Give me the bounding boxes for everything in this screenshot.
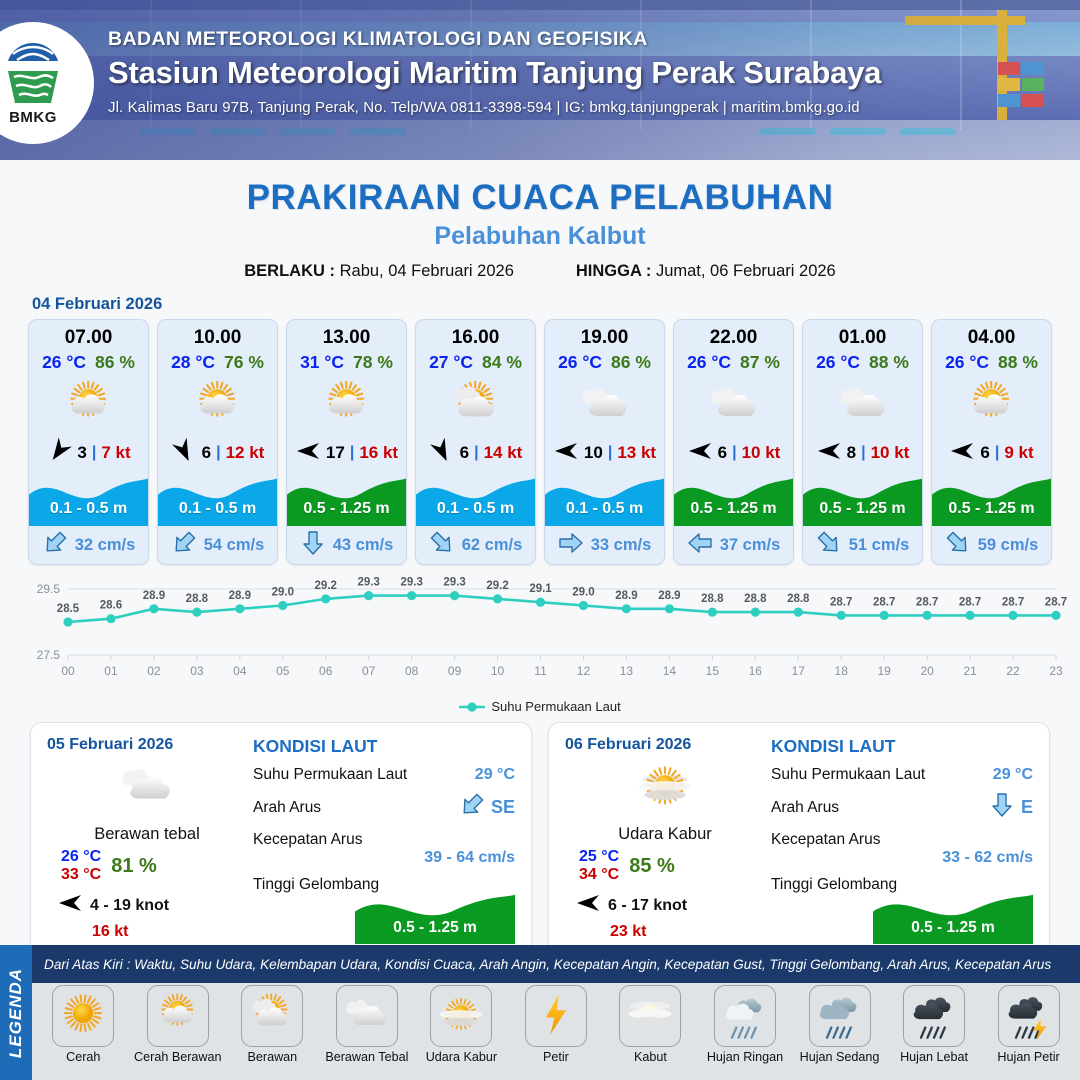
chart-legend-marker-icon — [459, 701, 485, 713]
wind-separator: | — [474, 444, 478, 462]
weather-hujan-lebat-icon — [903, 985, 965, 1047]
card-time: 10.00 — [194, 327, 242, 349]
legend-item: Cerah Berawan — [132, 985, 224, 1064]
legend-item: Hujan Ringan — [699, 985, 791, 1064]
validity-to-label: HINGGA : — [576, 262, 651, 280]
legend-item: Hujan Sedang — [794, 985, 886, 1064]
card-wind-direction: 10 — [584, 443, 603, 463]
forecast-card: 19.00 26 °C 86 % 10 | 13 kt 0.1 - 0.5 m … — [544, 319, 665, 565]
card-temperature: 26 °C — [558, 352, 602, 373]
svg-text:12: 12 — [577, 664, 591, 678]
svg-text:03: 03 — [190, 664, 204, 678]
forecast-date-label: 04 Februari 2026 — [32, 295, 1080, 314]
svg-text:16: 16 — [749, 664, 763, 678]
svg-text:28.9: 28.9 — [658, 590, 680, 602]
card-temp-humidity: 26 °C 86 % — [42, 352, 135, 373]
current-direction-label: Arah Arus — [253, 799, 321, 817]
current-speed-row: Kecepatan Arus — [771, 831, 1033, 849]
card-time: 01.00 — [839, 327, 887, 349]
chart-legend-label: Suhu Permukaan Laut — [491, 699, 620, 714]
forecast-card: 22.00 26 °C 87 % 6 | 10 kt 0.5 - 1.25 m … — [673, 319, 794, 565]
forecast-card: 07.00 26 °C 86 % 3 | 7 kt 0.1 - 0.5 m 32… — [28, 319, 149, 565]
weather-cerah-berawan-icon — [158, 376, 277, 436]
card-temperature: 28 °C — [171, 352, 215, 373]
legend-note-bar: Dari Atas Kiri : Waktu, Suhu Udara, Kele… — [32, 945, 1080, 983]
weather-kabut-icon — [619, 985, 681, 1047]
daily-wave-height: 0.5 - 1.25 m — [873, 919, 1033, 937]
svg-text:10: 10 — [491, 664, 505, 678]
wind-direction-arrow-icon — [57, 891, 83, 920]
weather-cerah-berawan-icon — [29, 376, 148, 436]
svg-text:28.7: 28.7 — [873, 596, 895, 608]
daily-temp-min: 26 °C — [61, 848, 101, 866]
legend-side-label: LEGENDA — [0, 945, 32, 1080]
sst-chart-svg: 29.527.500010203040506070809101112131415… — [10, 577, 1070, 697]
card-humidity: 86 % — [95, 352, 135, 373]
wind-direction-arrow-icon — [687, 439, 713, 468]
card-wind-direction: 6 — [980, 443, 989, 463]
svg-text:08: 08 — [405, 664, 419, 678]
daily-temp-block: 26 °C 33 °C 81 % — [47, 848, 247, 884]
weather-cerah-icon — [52, 985, 114, 1047]
svg-text:28.9: 28.9 — [143, 590, 165, 602]
card-wind-row: 8 | 10 kt — [803, 436, 922, 470]
page-subtitle: Pelabuhan Kalbut — [0, 222, 1080, 251]
daily-wave-height: 0.5 - 1.25 m — [355, 919, 515, 937]
svg-text:29.3: 29.3 — [358, 577, 380, 589]
current-speed-value: 39 - 64 cm/s — [253, 849, 515, 867]
daily-sea-conditions: KONDISI LAUT Suhu Permukaan Laut 29 °C A… — [765, 736, 1033, 957]
legend-item: Berawan Tebal — [321, 985, 413, 1064]
svg-text:29.3: 29.3 — [443, 577, 465, 589]
forecast-card: 13.00 31 °C 78 % 17 | 16 kt 0.5 - 1.25 m… — [286, 319, 407, 565]
legend-item-label: Cerah Berawan — [134, 1050, 222, 1064]
svg-text:06: 06 — [319, 664, 333, 678]
card-wind-speed: 10 kt — [871, 443, 910, 463]
wind-direction-arrow-icon — [295, 439, 321, 468]
current-direction-arrow-icon — [816, 531, 842, 560]
current-direction-arrow-icon — [171, 531, 197, 560]
svg-text:27.5: 27.5 — [37, 648, 61, 662]
weather-cerah-berawan-icon — [932, 376, 1051, 436]
svg-text:28.6: 28.6 — [100, 600, 122, 612]
card-temp-humidity: 26 °C 87 % — [687, 352, 780, 373]
daily-wave-band: 0.5 - 1.25 m — [873, 888, 1033, 944]
sst-value: 29 °C — [993, 766, 1033, 784]
daily-wind-speed: 6 - 17 knot — [608, 897, 687, 915]
current-direction-row: Arah Arus E — [771, 793, 1033, 822]
card-temp-humidity: 31 °C 78 % — [300, 352, 393, 373]
svg-text:28.8: 28.8 — [744, 593, 767, 605]
current-direction-arrow-icon — [945, 531, 971, 560]
card-wind-row: 10 | 13 kt — [545, 436, 664, 470]
card-wave-height: 0.5 - 1.25 m — [803, 500, 922, 518]
card-humidity: 86 % — [611, 352, 651, 373]
legend-item: Petir — [510, 985, 602, 1064]
card-humidity: 84 % — [482, 352, 522, 373]
legend-item: Hujan Petir — [983, 985, 1075, 1064]
card-wind-row: 17 | 16 kt — [287, 436, 406, 470]
card-current-speed: 43 cm/s — [333, 536, 394, 555]
card-wave-band: 0.1 - 0.5 m — [545, 472, 664, 526]
card-humidity: 88 % — [869, 352, 909, 373]
card-wind-direction: 6 — [202, 443, 211, 463]
legend-side-text: LEGENDA — [6, 967, 26, 1057]
sst-row: Suhu Permukaan Laut 29 °C — [771, 766, 1033, 784]
card-wave-band: 0.1 - 0.5 m — [158, 472, 277, 526]
legend-section: LEGENDA Dari Atas Kiri : Waktu, Suhu Uda… — [0, 945, 1080, 1080]
current-direction-value: E — [1021, 797, 1033, 818]
card-wave-height: 0.1 - 0.5 m — [416, 500, 535, 518]
card-wave-height: 0.5 - 1.25 m — [287, 500, 406, 518]
daily-summary-panel: 05 Februari 2026 Berawan tebal 26 °C 33 … — [30, 722, 532, 970]
daily-wind-row: 6 - 17 knot — [565, 891, 765, 920]
card-wind-speed: 14 kt — [484, 443, 523, 463]
sea-conditions-title: KONDISI LAUT — [253, 736, 515, 757]
card-current-speed: 37 cm/s — [720, 536, 781, 555]
validity-from-label: BERLAKU : — [244, 262, 335, 280]
card-current-speed: 54 cm/s — [204, 536, 265, 555]
daily-humidity: 85 % — [629, 855, 675, 878]
card-time: 16.00 — [452, 327, 500, 349]
weather-hujan-ringan-icon — [714, 985, 776, 1047]
card-wave-band: 0.5 - 1.25 m — [287, 472, 406, 526]
card-current-speed: 51 cm/s — [849, 536, 910, 555]
wind-direction-arrow-icon — [949, 439, 975, 468]
wind-direction-arrow-icon — [46, 439, 72, 468]
header-address: Jl. Kalimas Baru 97B, Tanjung Perak, No.… — [108, 99, 1068, 116]
card-wind-direction: 3 — [77, 443, 86, 463]
card-wave-band: 0.5 - 1.25 m — [674, 472, 793, 526]
card-wave-height: 0.1 - 0.5 m — [158, 500, 277, 518]
weather-berawan-icon — [416, 376, 535, 436]
daily-temp-max: 34 °C — [579, 866, 619, 884]
weather-berawan-icon — [241, 985, 303, 1047]
legend-item-label: Berawan Tebal — [325, 1050, 408, 1064]
current-speed-label: Kecepatan Arus — [253, 831, 362, 849]
daily-condition: Berawan tebal — [47, 825, 247, 844]
wind-separator: | — [861, 444, 865, 462]
wind-separator: | — [92, 444, 96, 462]
wind-direction-arrow-icon — [553, 439, 579, 468]
card-wave-height: 0.5 - 1.25 m — [674, 500, 793, 518]
daily-sea-conditions: KONDISI LAUT Suhu Permukaan Laut 29 °C A… — [247, 736, 515, 957]
card-wave-band: 0.5 - 1.25 m — [803, 472, 922, 526]
svg-text:29.0: 29.0 — [272, 587, 294, 599]
svg-text:09: 09 — [448, 664, 462, 678]
daily-humidity: 81 % — [111, 855, 157, 878]
chart-legend: Suhu Permukaan Laut — [0, 699, 1080, 714]
card-wave-band: 0.1 - 0.5 m — [416, 472, 535, 526]
card-wind-speed: 10 kt — [742, 443, 781, 463]
card-humidity: 76 % — [224, 352, 264, 373]
bmkg-logo-mark — [1, 41, 65, 107]
page-title: PRAKIRAAN CUACA PELABUHAN — [0, 178, 1080, 218]
svg-text:28.8: 28.8 — [701, 593, 724, 605]
legend-item: Udara Kabur — [415, 985, 507, 1064]
card-wind-direction: 8 — [847, 443, 856, 463]
card-current-speed: 62 cm/s — [462, 536, 523, 555]
card-wind-direction: 6 — [718, 443, 727, 463]
weather-berawan-tebal-icon — [47, 757, 247, 819]
wind-direction-arrow-icon — [171, 439, 197, 468]
card-wave-height: 0.1 - 0.5 m — [545, 500, 664, 518]
validity-from: BERLAKU : Rabu, 04 Februari 2026 — [244, 262, 514, 281]
header-text-block: BADAN METEOROLOGI KLIMATOLOGI DAN GEOFIS… — [108, 28, 1068, 116]
card-temperature: 26 °C — [816, 352, 860, 373]
wind-direction-arrow-icon — [429, 439, 455, 468]
validity-row: BERLAKU : Rabu, 04 Februari 2026 HINGGA … — [0, 262, 1080, 281]
legend-item: Berawan — [226, 985, 318, 1064]
weather-udara-kabur-icon — [430, 985, 492, 1047]
wind-separator: | — [732, 444, 736, 462]
card-temp-humidity: 28 °C 76 % — [171, 352, 264, 373]
card-wind-row: 3 | 7 kt — [29, 436, 148, 470]
card-current-speed: 32 cm/s — [75, 536, 136, 555]
svg-text:28.7: 28.7 — [1045, 596, 1067, 608]
card-current-row: 62 cm/s — [416, 526, 535, 564]
daily-panels: 05 Februari 2026 Berawan tebal 26 °C 33 … — [0, 714, 1080, 970]
daily-date: 05 Februari 2026 — [47, 736, 247, 754]
current-direction-value-group: SE — [459, 793, 515, 822]
card-humidity: 87 % — [740, 352, 780, 373]
card-wind-row: 6 | 14 kt — [416, 436, 535, 470]
svg-text:07: 07 — [362, 664, 376, 678]
svg-text:21: 21 — [963, 664, 977, 678]
svg-text:28.7: 28.7 — [1002, 596, 1024, 608]
card-wave-band: 0.1 - 0.5 m — [29, 472, 148, 526]
svg-text:28.5: 28.5 — [57, 603, 80, 615]
daily-date: 06 Februari 2026 — [565, 736, 765, 754]
wind-separator: | — [995, 444, 999, 462]
svg-text:00: 00 — [61, 664, 75, 678]
weather-berawan-tebal-icon — [674, 376, 793, 436]
weather-hujan-petir-icon — [998, 985, 1060, 1047]
daily-wind-row: 4 - 19 knot — [47, 891, 247, 920]
current-direction-arrow-icon — [558, 531, 584, 560]
card-wind-row: 6 | 10 kt — [674, 436, 793, 470]
validity-to: HINGGA : Jumat, 06 Februari 2026 — [576, 262, 836, 281]
card-temperature: 26 °C — [687, 352, 731, 373]
svg-text:05: 05 — [276, 664, 290, 678]
wind-separator: | — [350, 444, 354, 462]
card-wind-speed: 16 kt — [359, 443, 398, 463]
svg-text:28.9: 28.9 — [229, 590, 251, 602]
weather-berawan-tebal-icon — [803, 376, 922, 436]
legend-item-label: Petir — [543, 1050, 569, 1064]
card-wave-height: 0.5 - 1.25 m — [932, 500, 1051, 518]
card-wind-direction: 17 — [326, 443, 345, 463]
svg-text:28.7: 28.7 — [959, 596, 981, 608]
daily-temp-min: 25 °C — [579, 848, 619, 866]
card-time: 22.00 — [710, 327, 758, 349]
legend-item-label: Berawan — [247, 1050, 297, 1064]
current-direction-arrow-icon — [300, 531, 326, 560]
svg-text:22: 22 — [1006, 664, 1020, 678]
weather-berawan-tebal-icon — [545, 376, 664, 436]
current-direction-row: Arah Arus SE — [253, 793, 515, 822]
card-time: 19.00 — [581, 327, 629, 349]
forecast-card: 01.00 26 °C 88 % 8 | 10 kt 0.5 - 1.25 m … — [802, 319, 923, 565]
svg-text:11: 11 — [534, 664, 547, 678]
legend-item: Cerah — [37, 985, 129, 1064]
daily-left: 05 Februari 2026 Berawan tebal 26 °C 33 … — [47, 736, 247, 957]
wind-direction-arrow-icon — [816, 439, 842, 468]
card-humidity: 78 % — [353, 352, 393, 373]
weather-petir-icon — [525, 985, 587, 1047]
weather-cerah-berawan-icon — [287, 376, 406, 436]
sst-value: 29 °C — [475, 766, 515, 784]
forecast-card: 16.00 27 °C 84 % 6 | 14 kt 0.1 - 0.5 m 6… — [415, 319, 536, 565]
daily-wave-band: 0.5 - 1.25 m — [355, 888, 515, 944]
card-temperature: 26 °C — [42, 352, 86, 373]
svg-text:29.3: 29.3 — [400, 577, 422, 589]
svg-text:29.5: 29.5 — [37, 582, 61, 596]
current-direction-arrow-icon — [429, 531, 455, 560]
card-current-row: 59 cm/s — [932, 526, 1051, 564]
card-current-row: 37 cm/s — [674, 526, 793, 564]
svg-text:29.2: 29.2 — [315, 580, 337, 592]
header-station-name: Stasiun Meteorologi Maritim Tanjung Pera… — [108, 55, 1068, 91]
legend-item-label: Hujan Lebat — [900, 1050, 968, 1064]
card-wind-row: 6 | 12 kt — [158, 436, 277, 470]
card-humidity: 88 % — [998, 352, 1038, 373]
card-wave-height: 0.1 - 0.5 m — [29, 500, 148, 518]
card-current-speed: 59 cm/s — [978, 536, 1039, 555]
header-organization: BADAN METEOROLOGI KLIMATOLOGI DAN GEOFIS… — [108, 28, 1068, 51]
current-direction-arrow-icon — [687, 531, 713, 560]
bmkg-logo-text: BMKG — [9, 109, 57, 126]
svg-text:28.9: 28.9 — [615, 590, 637, 602]
current-direction-arrow-icon — [989, 793, 1015, 822]
weather-cerah-berawan-icon — [147, 985, 209, 1047]
card-wind-speed: 12 kt — [226, 443, 265, 463]
svg-text:13: 13 — [620, 664, 634, 678]
card-current-row: 43 cm/s — [287, 526, 406, 564]
card-time: 07.00 — [65, 327, 113, 349]
card-temp-humidity: 27 °C 84 % — [429, 352, 522, 373]
current-direction-arrow-icon — [459, 793, 485, 822]
card-wind-direction: 6 — [460, 443, 469, 463]
svg-text:02: 02 — [147, 664, 161, 678]
current-speed-label: Kecepatan Arus — [771, 831, 880, 849]
legend-item-label: Cerah — [66, 1050, 100, 1064]
sst-label: Suhu Permukaan Laut — [771, 766, 925, 784]
card-current-speed: 33 cm/s — [591, 536, 652, 555]
svg-text:29.1: 29.1 — [529, 583, 552, 595]
card-temp-humidity: 26 °C 86 % — [558, 352, 651, 373]
svg-text:20: 20 — [920, 664, 934, 678]
current-speed-value: 33 - 62 cm/s — [771, 849, 1033, 867]
card-time: 13.00 — [323, 327, 371, 349]
daily-wind-speed: 4 - 19 knot — [90, 897, 169, 915]
svg-text:18: 18 — [835, 664, 849, 678]
svg-text:28.8: 28.8 — [787, 593, 810, 605]
card-wave-band: 0.5 - 1.25 m — [932, 472, 1051, 526]
sst-row: Suhu Permukaan Laut 29 °C — [253, 766, 515, 784]
legend-note-text: Dari Atas Kiri : Waktu, Suhu Udara, Kele… — [44, 957, 1051, 972]
svg-text:01: 01 — [104, 664, 118, 678]
svg-text:29.0: 29.0 — [572, 587, 594, 599]
current-direction-value: SE — [491, 797, 515, 818]
card-temperature: 27 °C — [429, 352, 473, 373]
legend-icon-row: Cerah Cerah Berawan Berawan Berawan Teba… — [32, 985, 1080, 1080]
forecast-card-row: 07.00 26 °C 86 % 3 | 7 kt 0.1 - 0.5 m 32… — [0, 319, 1080, 565]
svg-text:28.7: 28.7 — [916, 596, 938, 608]
sst-label: Suhu Permukaan Laut — [253, 766, 407, 784]
daily-gust: 16 kt — [47, 923, 247, 941]
sst-chart: 29.527.500010203040506070809101112131415… — [10, 577, 1070, 697]
validity-from-value: Rabu, 04 Februari 2026 — [340, 262, 514, 280]
page-header: BMKG BADAN METEOROLOGI KLIMATOLOGI DAN G… — [0, 0, 1080, 160]
current-direction-value-group: E — [989, 793, 1033, 822]
card-current-row: 51 cm/s — [803, 526, 922, 564]
svg-text:17: 17 — [792, 664, 806, 678]
daily-condition: Udara Kabur — [565, 825, 765, 844]
card-current-row: 33 cm/s — [545, 526, 664, 564]
svg-text:04: 04 — [233, 664, 247, 678]
svg-text:28.7: 28.7 — [830, 596, 852, 608]
svg-text:15: 15 — [706, 664, 720, 678]
card-temp-humidity: 26 °C 88 % — [816, 352, 909, 373]
daily-temp-max: 33 °C — [61, 866, 101, 884]
validity-to-value: Jumat, 06 Februari 2026 — [656, 262, 836, 280]
card-temp-humidity: 26 °C 88 % — [945, 352, 1038, 373]
svg-text:14: 14 — [663, 664, 677, 678]
wind-separator: | — [608, 444, 612, 462]
card-time: 04.00 — [968, 327, 1016, 349]
daily-temp-block: 25 °C 34 °C 85 % — [565, 848, 765, 884]
card-wind-speed: 9 kt — [1004, 443, 1033, 463]
wind-separator: | — [216, 444, 220, 462]
legend-item-label: Udara Kabur — [426, 1050, 497, 1064]
legend-item: Hujan Lebat — [888, 985, 980, 1064]
card-temperature: 26 °C — [945, 352, 989, 373]
weather-hujan-sedang-icon — [809, 985, 871, 1047]
card-current-row: 54 cm/s — [158, 526, 277, 564]
daily-gust: 23 kt — [565, 923, 765, 941]
weather-udara-kabur-icon — [565, 757, 765, 819]
sea-conditions-title: KONDISI LAUT — [771, 736, 1033, 757]
current-direction-label: Arah Arus — [771, 799, 839, 817]
current-speed-row: Kecepatan Arus — [253, 831, 515, 849]
svg-text:28.8: 28.8 — [186, 593, 209, 605]
card-wind-speed: 13 kt — [617, 443, 656, 463]
forecast-card: 04.00 26 °C 88 % 6 | 9 kt 0.5 - 1.25 m 5… — [931, 319, 1052, 565]
legend-item-label: Hujan Ringan — [707, 1050, 783, 1064]
weather-berawan-tebal-icon — [336, 985, 398, 1047]
svg-text:23: 23 — [1049, 664, 1063, 678]
svg-text:29.2: 29.2 — [486, 580, 508, 592]
card-temperature: 31 °C — [300, 352, 344, 373]
daily-summary-panel: 06 Februari 2026 Udara Kabur 25 °C 34 °C… — [548, 722, 1050, 970]
svg-text:19: 19 — [877, 664, 891, 678]
card-wind-speed: 7 kt — [101, 443, 130, 463]
legend-item-label: Hujan Petir — [997, 1050, 1059, 1064]
card-wind-row: 6 | 9 kt — [932, 436, 1051, 470]
legend-item-label: Kabut — [634, 1050, 667, 1064]
forecast-card: 10.00 28 °C 76 % 6 | 12 kt 0.1 - 0.5 m 5… — [157, 319, 278, 565]
wind-direction-arrow-icon — [575, 891, 601, 920]
current-direction-arrow-icon — [42, 531, 68, 560]
legend-item: Kabut — [604, 985, 696, 1064]
card-current-row: 32 cm/s — [29, 526, 148, 564]
legend-item-label: Hujan Sedang — [800, 1050, 880, 1064]
daily-left: 06 Februari 2026 Udara Kabur 25 °C 34 °C… — [565, 736, 765, 957]
